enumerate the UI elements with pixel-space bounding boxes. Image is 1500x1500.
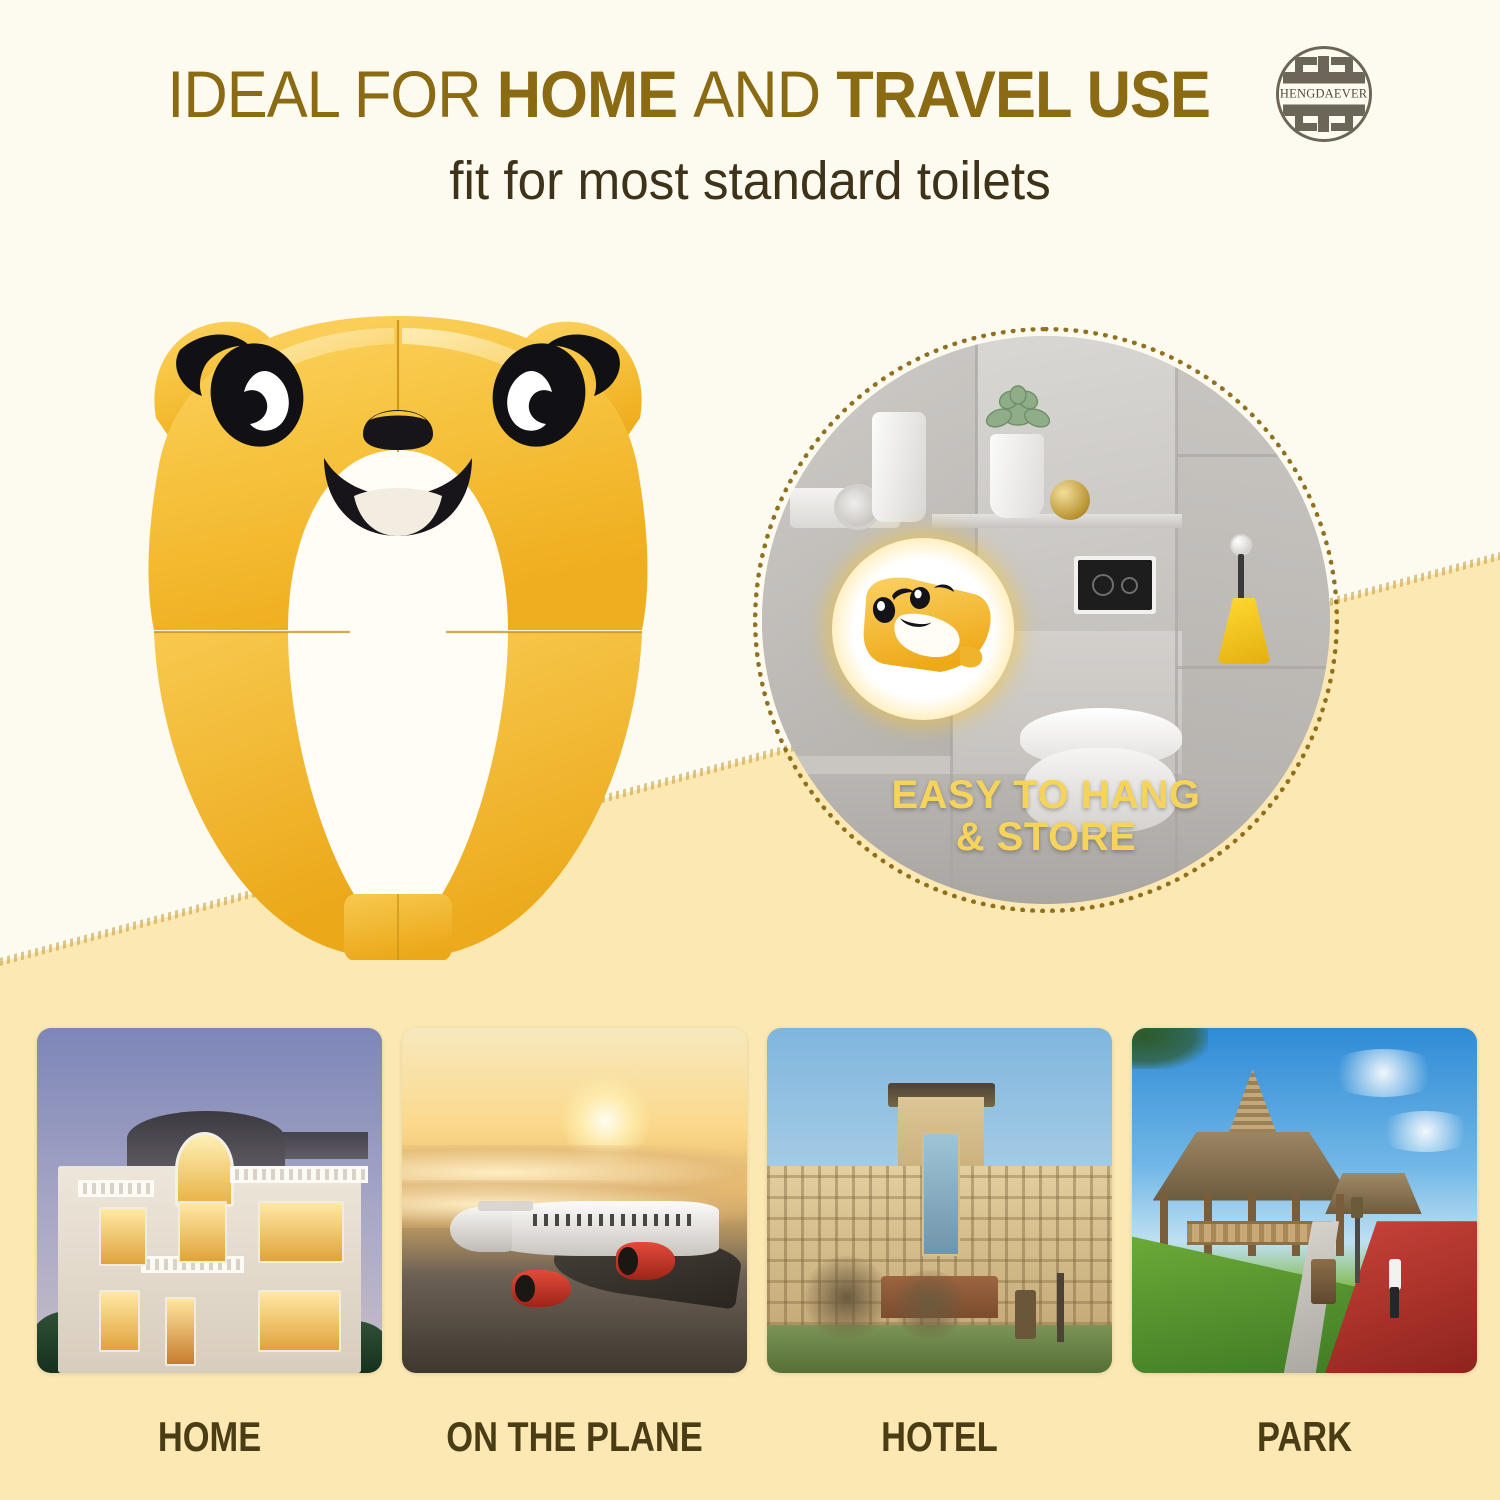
headline-part-4: TRAVEL USE [837,57,1211,131]
usage-scenario-gallery: HOME ON THE PLANE [0,1028,1500,1500]
villa-arch-window [175,1132,234,1208]
toilet-flush-plate [1074,556,1156,614]
page-subtitle: fit for most standard toilets [38,150,1463,212]
gold-decorative-ball [1050,480,1090,520]
cloud [1325,1049,1442,1097]
gallery-item-park[interactable]: PARK [1132,1028,1477,1461]
plane-nose [450,1207,512,1252]
product-inset-illustration [848,572,998,684]
brand-logo: HENGDAEVER [1276,46,1372,142]
fountain [1015,1290,1036,1338]
wall-suction-hook [1230,534,1252,556]
grout-line [1177,666,1330,669]
plane-engine-far [616,1242,675,1280]
photo-hotel [767,1028,1112,1373]
trash-bin [1311,1259,1335,1304]
villa-window [258,1290,341,1352]
brand-logo-text: HENGDAEVER [1279,84,1369,105]
bathroom-shelf [932,514,1182,528]
headline-row: IDEAL FOR HOME AND TRAVEL USE HENGDAEVER [0,46,1500,142]
jogger-torso [1389,1259,1401,1290]
photo-plane [402,1028,747,1373]
cloud [1374,1111,1478,1152]
succulent-plant-icon [977,384,1059,440]
lamp-post [1057,1273,1064,1342]
villa-door [165,1297,196,1366]
villa-balustrade [78,1180,154,1197]
hotel-glass-atrium [922,1132,960,1256]
logo-bar-bottom [1283,103,1365,116]
villa-window [258,1201,344,1263]
gallery-label-home: HOME [68,1413,351,1461]
gallery-label-hotel: HOTEL [798,1413,1081,1461]
product-image-bear-toilet-seat [118,300,678,960]
flush-button-full[interactable] [1092,574,1114,596]
flush-plate-face [1078,560,1152,610]
engine-intake [618,1247,638,1274]
hook-stem [1238,554,1244,602]
bathroom-scene-circle: EASY TO HANG & STORE [762,336,1330,904]
pavilion-roof [1153,1132,1353,1201]
bathroom-caption-line1: EASY TO HANG [762,774,1330,816]
white-vase [872,412,926,522]
headline-part-1: IDEAL FOR [168,57,497,131]
product-illustration [118,300,678,960]
villa-window [99,1207,147,1266]
photo-home [37,1028,382,1373]
tree-foliage-corner [1132,1028,1208,1069]
park-lamp-head [1351,1197,1363,1218]
villa-window [178,1201,226,1263]
bare-tree [891,1270,967,1339]
page-title: IDEAL FOR HOME AND TRAVEL USE [168,56,1211,132]
flush-button-half[interactable] [1121,577,1138,594]
plane-engine-near [512,1270,571,1308]
cockpit-windows [478,1201,533,1211]
bathroom-caption: EASY TO HANG & STORE [762,774,1330,859]
gallery-label-plane: ON THE PLANE [433,1413,716,1461]
villa-window [99,1290,140,1352]
park-lamp-post [1355,1214,1360,1283]
gallery-label-park: PARK [1163,1413,1446,1461]
grout-line [1177,454,1330,457]
bathroom-caption-line2: & STORE [762,816,1330,858]
bare-tree [802,1256,892,1339]
plane-windows [533,1214,692,1226]
gallery-item-home[interactable]: HOME [37,1028,382,1461]
jogger-legs [1390,1287,1399,1318]
engine-intake [515,1275,535,1302]
header: IDEAL FOR HOME AND TRAVEL USE HENGDAEVER… [0,0,1500,250]
plant-pot [990,434,1044,518]
photo-park [1132,1028,1477,1373]
headline-part-2: HOME [497,57,694,131]
gallery-item-hotel[interactable]: HOTEL [767,1028,1112,1461]
product-inset-bubble [832,538,1014,720]
gallery-item-plane[interactable]: ON THE PLANE [402,1028,747,1461]
headline-part-3: AND [694,57,837,131]
villa-balustrade [230,1166,368,1183]
